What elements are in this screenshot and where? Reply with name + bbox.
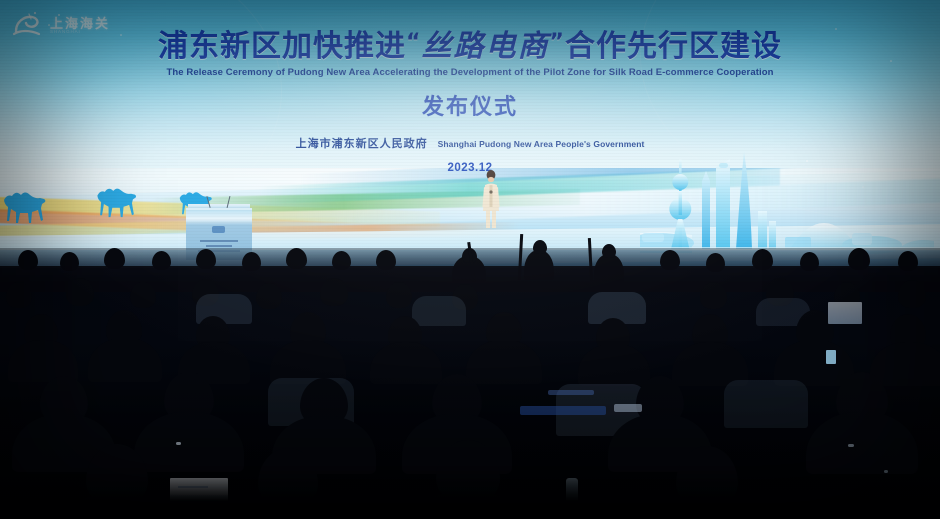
phone-screen-glow [826,350,836,364]
presenter-figure [478,168,504,230]
quote-close: ” [550,30,565,55]
audience-shoulders [870,342,940,386]
audience-area [0,248,940,519]
title-main: 浦东新区加快推进“丝路电商”合作先行区建设 [0,32,940,62]
backdrop-title-block: 浦东新区加快推进“丝路电商”合作先行区建设 The Release Ceremo… [0,0,940,174]
camel-silhouette-icon [88,182,146,226]
audience-shoulders [806,412,918,474]
audience-head [130,282,156,308]
lectern-text-line [200,240,238,242]
organizer-cn: 上海市浦东新区人民政府 [296,137,428,150]
chair-back [412,296,466,326]
organizer-line: 上海市浦东新区人民政府Shanghai Pudong New Area Peop… [0,135,940,151]
title-english: The Release Ceremony of Pudong New Area … [0,67,940,78]
title-cn-highlight: 丝路电商 [422,29,550,64]
organizer-en: Shanghai Pudong New Area People's Govern… [438,139,645,149]
led-backdrop: 上海海关 SHANGHAI [0,0,940,268]
audience-head [898,280,926,308]
lectern-emblem [212,226,225,233]
highlight-glint [884,470,888,473]
laptop-screen [828,302,862,324]
desk-light-strip [614,404,642,412]
subtitle-cn: 发布仪式 [0,89,940,121]
chair-back [724,380,808,428]
audience-head [66,278,94,306]
audience-shoulders [370,342,442,384]
title-cn-part1: 浦东新区加快推进 [158,29,406,64]
conference-photo: 上海海关 SHANGHAI [0,0,940,519]
audience-shoulders [134,412,244,472]
desk-light-strip [520,406,606,415]
audience-head [320,278,348,306]
foreground-darkness [0,474,940,519]
audience-shoulders [578,344,650,386]
camera-operator-head [533,240,547,254]
camera-operator-head [602,244,616,258]
camel-silhouette-icon [0,186,56,232]
quote-open: “ [406,30,421,55]
highlight-glint [176,442,181,445]
audience-head [700,282,727,309]
audience-shoulders [88,338,162,382]
audience-head [386,282,412,308]
lectern-text-line [206,245,232,247]
title-cn-part2: 合作先行区建设 [565,29,782,64]
audience-head [256,283,282,309]
highlight-glint [848,444,854,447]
desk-light-strip [548,390,594,395]
audience-head [6,282,32,308]
event-date: 2023.12 [0,162,940,174]
audience-shoulders [466,340,542,384]
